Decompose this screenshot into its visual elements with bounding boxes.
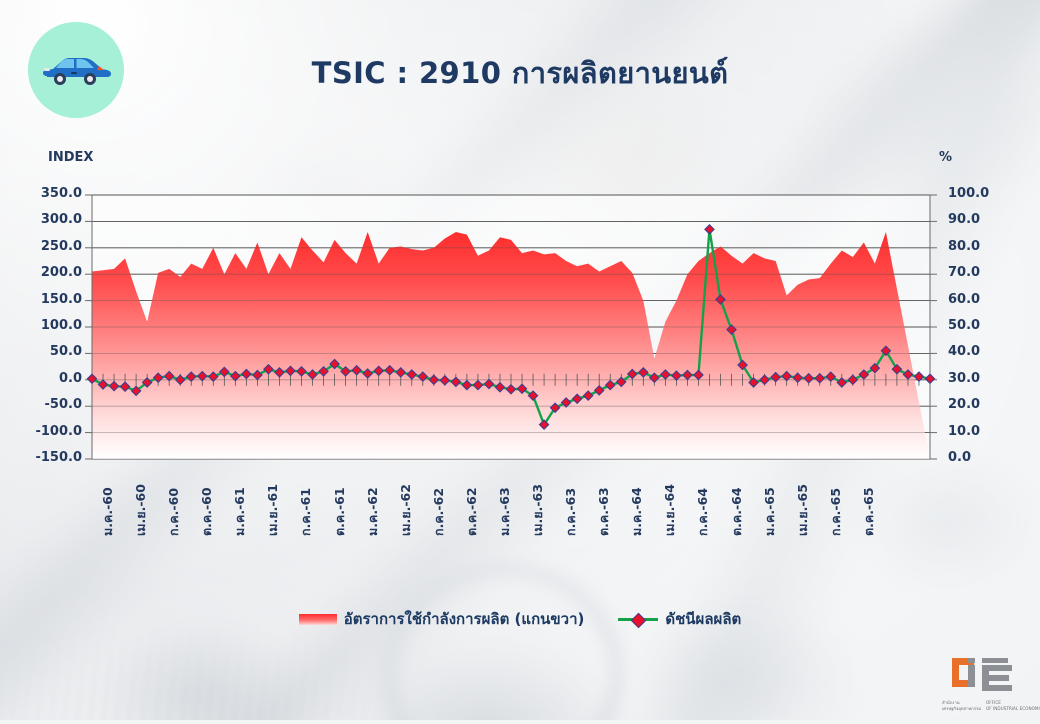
left-tick-label: 350.0 xyxy=(16,186,82,201)
left-tick-label: -50.0 xyxy=(16,397,82,412)
x-tick-label: ก.ค.-63 xyxy=(561,488,581,536)
x-tick-label: ก.ค.-60 xyxy=(164,488,184,536)
right-tick-label: 30.0 xyxy=(948,371,1018,386)
left-tick-label: 50.0 xyxy=(16,344,82,359)
logo-text-th: สำนักงานเศรษฐกิจอุตสาหกรรม xyxy=(942,700,981,712)
right-tick-label: 0.0 xyxy=(948,450,1018,465)
legend-item-capacity[interactable]: อัตราการใช้กำลังการผลิต (แกนขวา) xyxy=(299,607,585,631)
right-tick-label: 10.0 xyxy=(948,424,1018,439)
oie-logo: สำนักงานเศรษฐกิจอุตสาหกรรม OFFICEOF INDU… xyxy=(942,654,1026,712)
chart-legend: อัตราการใช้กำลังการผลิต (แกนขวา) ดัชนีผล… xyxy=(0,607,1040,631)
left-tick-label: 300.0 xyxy=(16,212,82,227)
x-tick-label: ต.ค.-62 xyxy=(462,487,482,536)
x-tick-label: ก.ค.-65 xyxy=(826,488,846,536)
x-tick-label: เม.ย.-61 xyxy=(263,484,283,536)
left-tick-label: 200.0 xyxy=(16,265,82,280)
right-tick-label: 90.0 xyxy=(948,212,1018,227)
logo-text-en: OFFICEOF INDUSTRIAL ECONOMICS xyxy=(986,700,1040,712)
right-tick-label: 60.0 xyxy=(948,292,1018,307)
left-tick-label: 100.0 xyxy=(16,318,82,333)
right-tick-label: 40.0 xyxy=(948,344,1018,359)
right-tick-label: 80.0 xyxy=(948,239,1018,254)
x-tick-label: เม.ย.-62 xyxy=(396,484,416,536)
x-tick-label: ก.ค.-64 xyxy=(693,488,713,536)
right-tick-label: 100.0 xyxy=(948,186,1018,201)
x-tick-label: ต.ค.-64 xyxy=(727,487,747,536)
right-tick-label: 50.0 xyxy=(948,318,1018,333)
left-tick-label: 150.0 xyxy=(16,292,82,307)
left-tick-label: 250.0 xyxy=(16,239,82,254)
legend-label-index: ดัชนีผลผลิต xyxy=(665,607,741,631)
x-tick-label: เม.ย.-63 xyxy=(528,484,548,536)
line-diamond-swatch-icon xyxy=(618,614,658,625)
legend-item-index[interactable]: ดัชนีผลผลิต xyxy=(618,607,741,631)
legend-label-capacity: อัตราการใช้กำลังการผลิต (แกนขวา) xyxy=(344,607,585,631)
x-tick-label: เม.ย.-60 xyxy=(131,484,151,536)
x-tick-label: ม.ค.-62 xyxy=(363,487,383,536)
area-swatch-icon xyxy=(299,614,337,625)
x-tick-label: ต.ค.-60 xyxy=(197,487,217,536)
left-tick-label: -100.0 xyxy=(16,424,82,439)
x-tick-label: ต.ค.-65 xyxy=(859,487,879,536)
x-tick-label: ต.ค.-63 xyxy=(594,487,614,536)
x-tick-label: ม.ค.-63 xyxy=(495,487,515,536)
right-tick-label: 20.0 xyxy=(948,397,1018,412)
x-tick-label: ม.ค.-65 xyxy=(760,487,780,536)
x-tick-label: เม.ย.-65 xyxy=(793,484,813,536)
x-tick-label: ก.ค.-61 xyxy=(296,488,316,536)
left-tick-label: 0.0 xyxy=(16,371,82,386)
x-tick-label: ต.ค.-61 xyxy=(330,487,350,536)
left-tick-label: -150.0 xyxy=(16,450,82,465)
x-tick-label: ม.ค.-60 xyxy=(98,487,118,536)
x-tick-label: ม.ค.-64 xyxy=(627,487,647,536)
right-tick-label: 70.0 xyxy=(948,265,1018,280)
x-tick-label: ม.ค.-61 xyxy=(230,487,250,536)
x-tick-label: ก.ค.-62 xyxy=(429,488,449,536)
x-tick-label: เม.ย.-64 xyxy=(660,484,680,536)
